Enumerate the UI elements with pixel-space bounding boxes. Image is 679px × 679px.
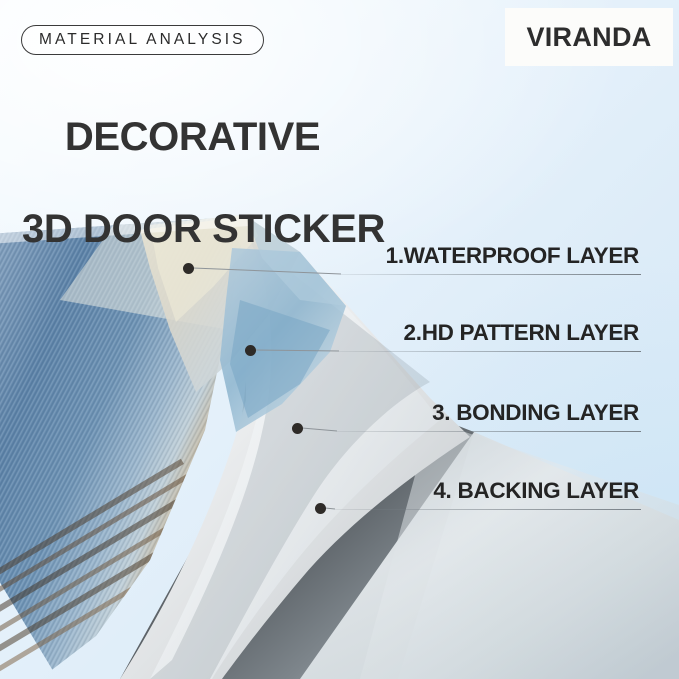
brand-name: VIRANDA (526, 22, 651, 53)
material-analysis-badge: MATERIAL ANALYSIS (21, 25, 264, 55)
page-title: DECORATIVE 3D DOOR STICKER (22, 68, 385, 344)
title-line-1: DECORATIVE (65, 115, 320, 159)
title-line-2: 3D DOOR STICKER (22, 206, 385, 252)
layer-dot-3 (292, 423, 303, 434)
badge-label: MATERIAL ANALYSIS (39, 31, 246, 49)
layer-underline-4 (335, 509, 641, 510)
layer-underline-3 (337, 431, 641, 432)
product-infographic: MATERIAL ANALYSIS VIRANDA DECORATIVE 3D … (0, 0, 679, 679)
layer-label-backing: 4. BACKING LAYER (433, 478, 639, 508)
layer-dot-1 (183, 263, 194, 274)
layer-dot-4 (315, 503, 326, 514)
layer-dot-2 (245, 345, 256, 356)
layer-label-hd-pattern: 2.HD PATTERN LAYER (404, 320, 639, 350)
brand-logo: VIRANDA (505, 8, 673, 66)
layer-underline-1 (341, 274, 641, 275)
layer-underline-2 (339, 351, 641, 352)
layer-label-bonding: 3. BONDING LAYER (432, 400, 639, 430)
layer-label-waterproof: 1.WATERPROOF LAYER (386, 243, 639, 273)
